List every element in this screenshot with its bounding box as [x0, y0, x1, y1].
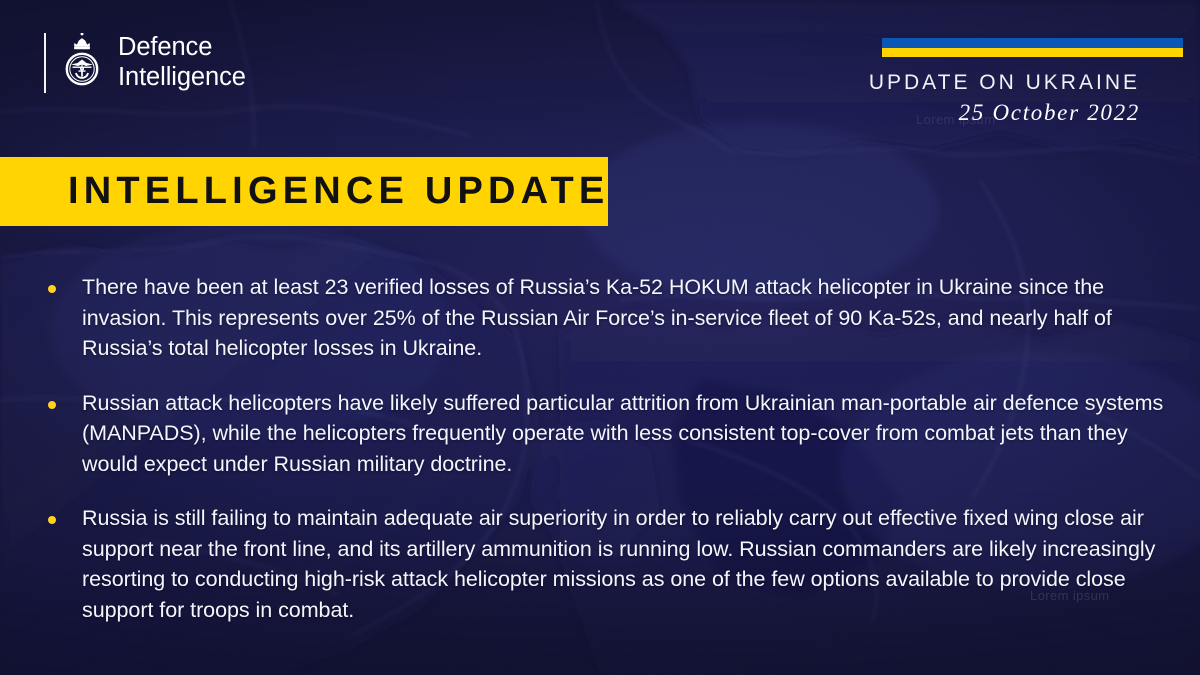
bullet-list: There have been at least 23 verified los… — [44, 272, 1172, 625]
bullet-dot-icon — [48, 285, 56, 293]
ukraine-flag-bar — [882, 38, 1183, 57]
logo-word-defence: Defence — [118, 33, 246, 63]
bullet-item: Russia is still failing to maintain adeq… — [44, 503, 1172, 625]
flag-stripe-blue — [882, 38, 1183, 48]
defence-intelligence-logo: Defence Intelligence — [44, 33, 246, 93]
bullet-item: Russian attack helicopters have likely s… — [44, 388, 1172, 480]
bullet-dot-icon — [48, 516, 56, 524]
flag-stripe-yellow — [882, 48, 1183, 58]
intelligence-update-banner: INTELLIGENCE UPDATE — [0, 157, 608, 226]
bullet-text: Russia is still failing to maintain adeq… — [82, 503, 1172, 625]
banner-label: INTELLIGENCE UPDATE — [68, 170, 609, 213]
royal-crest-icon — [59, 33, 105, 93]
intelligence-update-poster: Defence Intelligence UPDATE ON UKRAINE 2… — [0, 0, 1200, 675]
logo-divider-rule — [44, 33, 46, 93]
update-date: 25 October 2022 — [959, 100, 1140, 126]
bullet-text: There have been at least 23 verified los… — [82, 272, 1172, 364]
logo-word-intelligence: Intelligence — [118, 63, 246, 93]
bullet-dot-icon — [48, 401, 56, 409]
logo-wordmark: Defence Intelligence — [118, 33, 246, 93]
update-title: UPDATE ON UKRAINE — [869, 71, 1140, 95]
bullet-item: There have been at least 23 verified los… — [44, 272, 1172, 364]
bullet-text: Russian attack helicopters have likely s… — [82, 388, 1172, 480]
